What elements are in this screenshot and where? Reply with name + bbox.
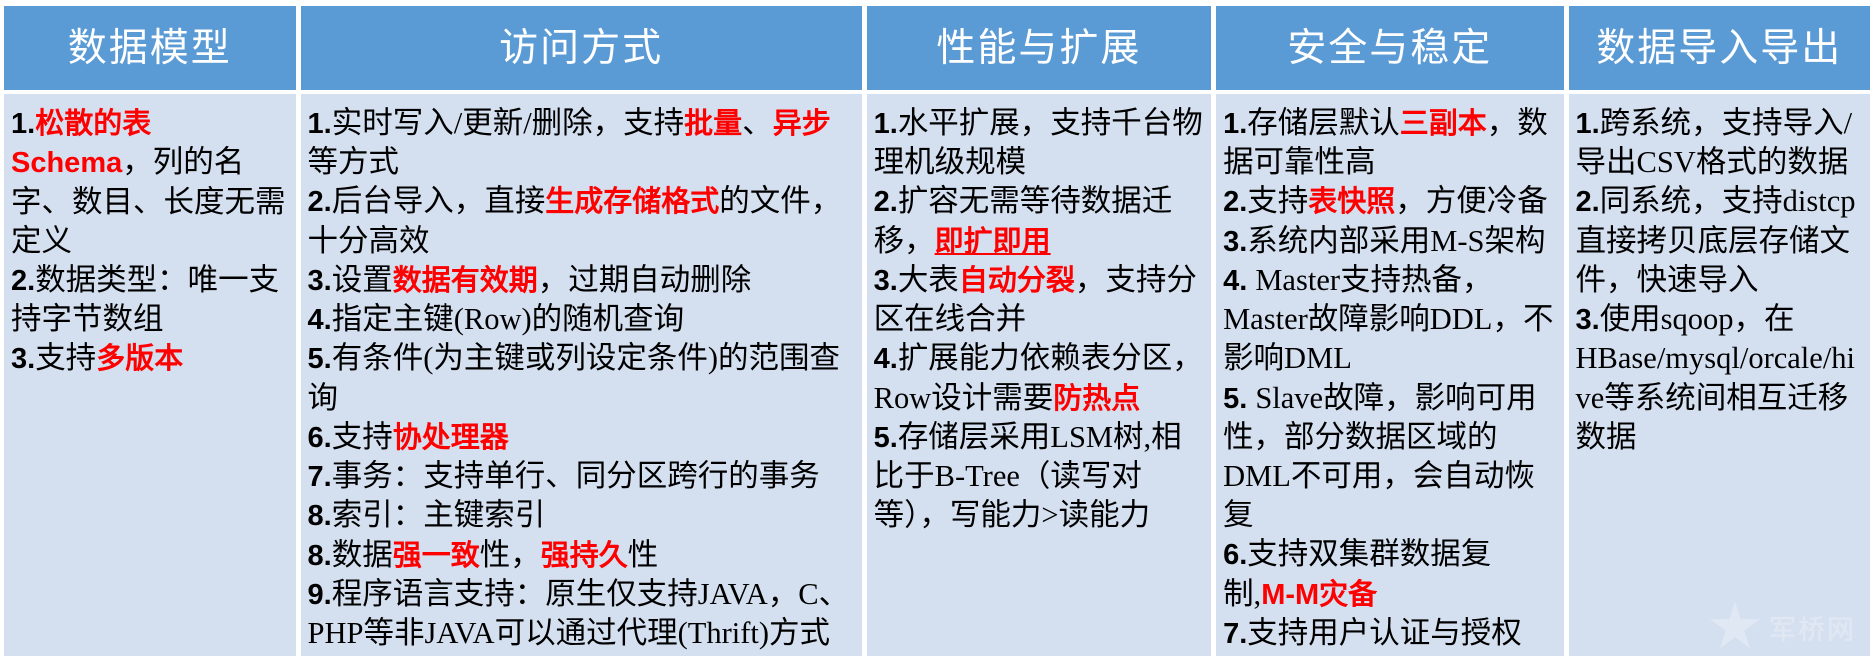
list-item-text: 系统内部采用M-S架构 xyxy=(1247,224,1545,258)
list-item: 4.扩展能力依赖表分区，Row设计需要防热点 xyxy=(874,339,1204,418)
list-item: 3.使用sqoop，在HBase/mysql/orcale/hive等系统间相互… xyxy=(1576,300,1864,457)
highlighted-keyword: 松散的表 xyxy=(35,108,151,140)
list-item-number: 4. xyxy=(308,304,332,336)
list-item: 3.系统内部采用M-S架构 xyxy=(1223,222,1556,261)
list-item-text: Slave故障，影响可用性，部分数据区域的DML不可用，会自动恢复 xyxy=(1223,381,1537,533)
list-item: 2.支持表快照，方便冷备 xyxy=(1223,182,1556,221)
highlighted-keyword: 三副本 xyxy=(1400,108,1487,140)
list-item: 1.存储层默认三副本，数据可靠性高 xyxy=(1223,104,1556,182)
list-item-text: 支持用户认证与授权 xyxy=(1247,616,1522,650)
highlighted-keyword: 数据有效期 xyxy=(393,265,538,297)
column-header-access-method: 访问方式 xyxy=(301,6,862,90)
list-item: 1.水平扩展，支持千台物理机级规模 xyxy=(874,104,1204,182)
list-item-number: 1. xyxy=(874,108,898,140)
list-item-text: 水平扩展，支持千台物理机级规模 xyxy=(874,106,1203,179)
list-item: 8.索引：主键索引 xyxy=(308,496,855,535)
list-item-text: 数据 xyxy=(332,538,393,572)
list-item-number: 7. xyxy=(1223,618,1247,650)
table-column-access-method: 访问方式 1.实时写入/更新/删除，支持批量、异步等方式2.后台导入，直接生成存… xyxy=(301,6,862,656)
list-item: 3.大表自动分裂，支持分区在线合并 xyxy=(874,261,1204,339)
list-item-number: 3. xyxy=(1576,304,1600,336)
list-item: 1.松散的表Schema，列的名字、数目、长度无需定义 xyxy=(11,104,289,261)
highlighted-keyword: 防热点 xyxy=(1053,383,1140,415)
column-header-security-stability: 安全与稳定 xyxy=(1216,6,1563,90)
list-item: 6.支持双集群数据复制,M-M灾备 xyxy=(1223,535,1556,614)
highlighted-keyword: 批量 xyxy=(684,108,742,140)
item-list: 1.松散的表Schema，列的名字、数目、长度无需定义2.数据类型：唯一支持字节… xyxy=(11,104,289,379)
list-item-text: 事务：支持单行、同分区跨行的事务 xyxy=(332,459,820,493)
list-item-text: 等方式 xyxy=(308,145,400,179)
list-item-text: 实时写入/更新/删除，支持 xyxy=(332,106,684,140)
list-item-text: ，过期自动删除 xyxy=(538,263,752,297)
list-item-number: 1. xyxy=(1576,108,1600,140)
list-item-text: 索引：主键索引 xyxy=(332,498,546,532)
list-item-text: 支持 xyxy=(35,341,96,375)
list-item-number: 6. xyxy=(1223,539,1247,571)
list-item-number: 2. xyxy=(1576,186,1600,218)
item-list: 1.跨系统，支持导入/导出CSV格式的数据2.同系统，支持distcp直接拷贝底… xyxy=(1576,104,1864,457)
list-item-number: 3. xyxy=(308,265,332,297)
list-item-number: 8. xyxy=(308,500,332,532)
list-item-text: 指定主键(Row)的随机查询 xyxy=(332,302,684,336)
list-item-number: 1. xyxy=(1223,108,1247,140)
table-column-data-import-export: 数据导入导出 1.跨系统，支持导入/导出CSV格式的数据2.同系统，支持dist… xyxy=(1569,6,1871,656)
list-item: 1.跨系统，支持导入/导出CSV格式的数据 xyxy=(1576,104,1864,182)
list-item-number: 2. xyxy=(1223,186,1247,218)
list-item-text: 大表 xyxy=(898,263,959,297)
table-column-data-model: 数据模型 1.松散的表Schema，列的名字、数目、长度无需定义2.数据类型：唯… xyxy=(4,6,296,656)
list-item-number: 5. xyxy=(308,343,332,375)
highlighted-keyword: Schema xyxy=(11,147,122,179)
highlighted-keyword: 协处理器 xyxy=(393,422,509,454)
column-body-data-model: 1.松散的表Schema，列的名字、数目、长度无需定义2.数据类型：唯一支持字节… xyxy=(4,94,296,656)
column-body-security-stability: 1.存储层默认三副本，数据可靠性高2.支持表快照，方便冷备3.系统内部采用M-S… xyxy=(1216,94,1563,656)
list-item-number: 5. xyxy=(874,422,898,454)
column-header-performance-scalability: 性能与扩展 xyxy=(867,6,1211,90)
item-list: 1.存储层默认三副本，数据可靠性高2.支持表快照，方便冷备3.系统内部采用M-S… xyxy=(1223,104,1556,653)
list-item: 4.指定主键(Row)的随机查询 xyxy=(308,300,855,339)
list-item-number: 7. xyxy=(308,461,332,493)
list-item-number: 4. xyxy=(1223,265,1255,297)
list-item: 9.程序语言支持：原生仅支持JAVA，C、PHP等非JAVA可以通过代理(Thr… xyxy=(308,575,855,656)
list-item-text: ，方便冷备 xyxy=(1395,184,1548,218)
list-item: 5. Slave故障，影响可用性，部分数据区域的DML不可用，会自动恢复 xyxy=(1223,379,1556,536)
list-item-number: 3. xyxy=(1223,226,1247,258)
list-item-text: 存储层默认 xyxy=(1247,106,1400,140)
table-column-security-stability: 安全与稳定 1.存储层默认三副本，数据可靠性高2.支持表快照，方便冷备3.系统内… xyxy=(1216,6,1563,656)
list-item-text: 有条件(为主键或列设定条件)的范围查询 xyxy=(308,341,841,414)
feature-comparison-table: 数据模型 1.松散的表Schema，列的名字、数目、长度无需定义2.数据类型：唯… xyxy=(4,6,1870,656)
column-header-data-model: 数据模型 xyxy=(4,6,296,90)
list-item: 2.扩容无需等待数据迁移，即扩即用 xyxy=(874,182,1204,261)
list-item-text: 支持 xyxy=(332,420,393,454)
highlighted-keyword: 表快照 xyxy=(1308,186,1395,218)
list-item-text: 、 xyxy=(742,106,773,140)
list-item-text: 性 xyxy=(628,538,659,572)
highlighted-keyword: 生成存储格式 xyxy=(545,186,719,218)
highlighted-underlined-keyword: 即扩即用 xyxy=(935,226,1051,258)
column-header-data-import-export: 数据导入导出 xyxy=(1569,6,1871,90)
list-item-text: 同系统，支持distcp直接拷贝底层存储文件，快速导入 xyxy=(1576,184,1856,296)
list-item-number: 2. xyxy=(874,186,898,218)
list-item: 2.后台导入，直接生成存储格式的文件，十分高效 xyxy=(308,182,855,260)
list-item-text: 设置 xyxy=(332,263,393,297)
list-item: 4. Master支持热备，Master故障影响DDL，不影响DML xyxy=(1223,261,1556,379)
highlighted-keyword: 强持久 xyxy=(541,540,628,572)
highlighted-keyword: 异步 xyxy=(773,108,831,140)
list-item: 3.支持多版本 xyxy=(11,339,289,378)
list-item: 2.同系统，支持distcp直接拷贝底层存储文件，快速导入 xyxy=(1576,182,1864,300)
item-list: 1.水平扩展，支持千台物理机级规模2.扩容无需等待数据迁移，即扩即用3.大表自动… xyxy=(874,104,1204,536)
list-item: 8.数据强一致性，强持久性 xyxy=(308,536,855,575)
list-item: 1.实时写入/更新/删除，支持批量、异步等方式 xyxy=(308,104,855,182)
list-item: 7.事务：支持单行、同分区跨行的事务 xyxy=(308,457,855,496)
list-item-number: 4. xyxy=(874,343,898,375)
list-item-text: 使用sqoop，在HBase/mysql/orcale/hive等系统间相互迁移… xyxy=(1576,302,1856,454)
list-item: 2.数据类型：唯一支持字节数组 xyxy=(11,261,289,339)
list-item-number: 1. xyxy=(308,108,332,140)
list-item: 5.存储层采用LSM树,相比于B-Tree（读写对等），写能力>读能力 xyxy=(874,418,1204,536)
highlighted-keyword: M-M灾备 xyxy=(1261,579,1377,611)
table-column-performance-scalability: 性能与扩展 1.水平扩展，支持千台物理机级规模2.扩容无需等待数据迁移，即扩即用… xyxy=(867,6,1211,656)
comparison-table-slide: 数据模型 1.松散的表Schema，列的名字、数目、长度无需定义2.数据类型：唯… xyxy=(0,0,1874,661)
list-item-text: 数据类型：唯一支持字节数组 xyxy=(11,263,279,336)
item-list: 1.实时写入/更新/删除，支持批量、异步等方式2.后台导入，直接生成存储格式的文… xyxy=(308,104,855,656)
list-item-number: 3. xyxy=(874,265,898,297)
list-item-number: 5. xyxy=(1223,383,1255,415)
list-item: 7.支持用户认证与授权 xyxy=(1223,614,1556,653)
list-item-text: 跨系统，支持导入/导出CSV格式的数据 xyxy=(1576,106,1853,179)
column-body-access-method: 1.实时写入/更新/删除，支持批量、异步等方式2.后台导入，直接生成存储格式的文… xyxy=(301,94,862,656)
list-item-number: 6. xyxy=(308,422,332,454)
list-item-text: 存储层采用LSM树,相比于B-Tree（读写对等），写能力>读能力 xyxy=(874,420,1182,532)
highlighted-keyword: 强一致 xyxy=(393,540,480,572)
highlighted-keyword: 多版本 xyxy=(96,343,183,375)
list-item-text: 程序语言支持：原生仅支持JAVA，C、PHP等非JAVA可以通过代理(Thrif… xyxy=(308,577,850,656)
list-item-text: Master支持热备，Master故障影响DDL，不影响DML xyxy=(1223,263,1553,375)
list-item-text: 性， xyxy=(480,538,541,572)
list-item: 6.支持协处理器 xyxy=(308,418,855,457)
list-item: 3.设置数据有效期，过期自动删除 xyxy=(308,261,855,300)
list-item-number: 3. xyxy=(11,343,35,375)
list-item-number: 2. xyxy=(308,186,332,218)
list-item-number: 8. xyxy=(308,540,332,572)
list-item-text: 后台导入，直接 xyxy=(332,184,546,218)
list-item-number: 1. xyxy=(11,108,35,140)
list-item-text: 支持 xyxy=(1247,184,1308,218)
list-item-number: 9. xyxy=(308,579,332,611)
list-item: 5.有条件(为主键或列设定条件)的范围查询 xyxy=(308,339,855,417)
column-body-performance-scalability: 1.水平扩展，支持千台物理机级规模2.扩容无需等待数据迁移，即扩即用3.大表自动… xyxy=(867,94,1211,656)
highlighted-keyword: 自动分裂 xyxy=(959,265,1075,297)
column-body-data-import-export: 1.跨系统，支持导入/导出CSV格式的数据2.同系统，支持distcp直接拷贝底… xyxy=(1569,94,1871,656)
list-item-number: 2. xyxy=(11,265,35,297)
list-item-text: 扩展能力依赖表分区，Row设计需要 xyxy=(874,341,1203,414)
